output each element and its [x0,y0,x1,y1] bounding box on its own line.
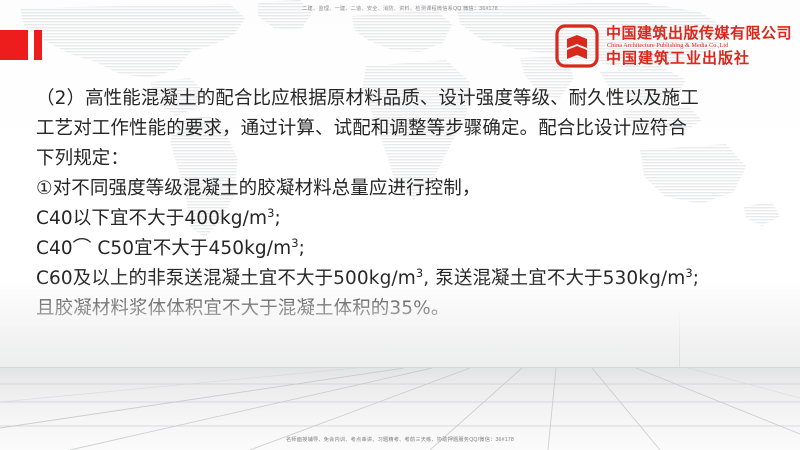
spec-line-c40: C40以下宜不大于400kg/m3; [36,204,772,234]
body-line: 工艺对工作性能的要求，通过计算、试配和调整等步骤确定。配合比设计应符合 [36,114,772,144]
red-square [0,30,28,60]
spec-superscript: 3 [291,236,298,250]
logo-press-cn: 中国建筑工业出版社 [606,51,792,66]
open-book-logo-icon [555,24,599,68]
spec-text: C40⌒ C50宜不大于450kg/m [36,238,291,259]
body-line: ①对不同强度等级混凝土的胶凝材料总量应进行控制， [36,174,772,204]
footer-note: 名师面授辅导、免会内训、考点串讲、习题精考、考前三天练、协助押题服务QQ/微信：… [0,436,800,444]
presentation-slide: 二建、监理、一建、二造、安全、消防、资料、检测课程微信系QQ 微信：36#178… [0,0,800,450]
body-line: （2）高性能混凝土的配合比应根据原材料品质、设计强度等级、耐久性以及施工 [36,84,772,114]
paragraph-1: （2）高性能混凝土的配合比应根据原材料品质、设计强度等级、耐久性以及施工 工艺对… [36,84,772,174]
red-bar [34,30,42,60]
spec-suffix: ; [275,208,281,229]
spec-line-c40-c50: C40⌒ C50宜不大于450kg/m3; [36,234,772,264]
spec-text: C40以下宜不大于400kg/m [36,208,267,229]
spec-superscript: 3 [267,206,274,220]
header-note: 二建、监理、一建、二造、安全、消防、资料、检测课程微信系QQ 微信：36#178 [0,5,800,13]
body-line: 下列规定： [36,144,772,174]
background-wall [0,278,800,368]
spec-suffix: ; [299,238,305,259]
publisher-logo: 中国建筑出版传媒有限公司 China Architecture Publishi… [555,24,792,68]
paragraph-2: ①对不同强度等级混凝土的胶凝材料总量应进行控制， [36,174,772,204]
wall-seam [679,308,680,368]
logo-company-cn: 中国建筑出版传媒有限公司 [606,26,792,41]
